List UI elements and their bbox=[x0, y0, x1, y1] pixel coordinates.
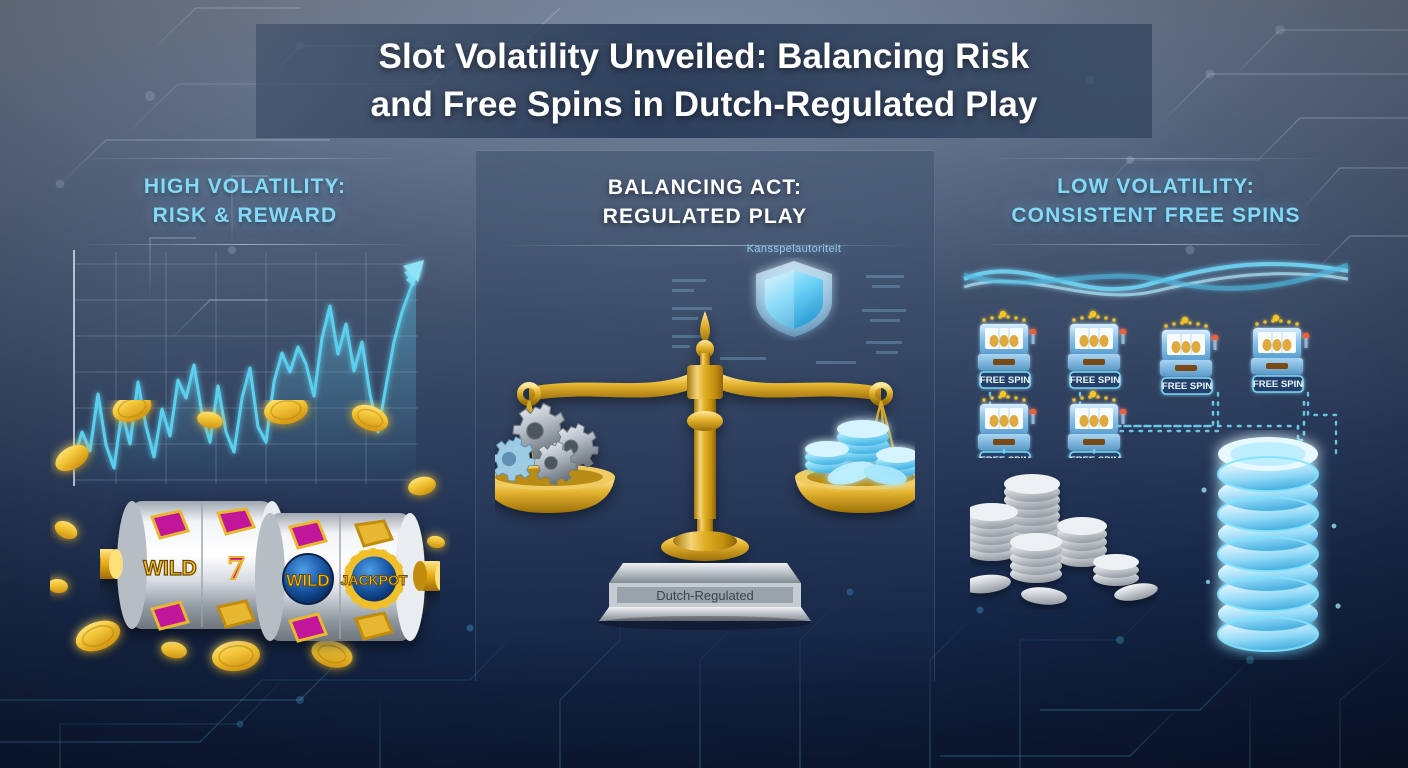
svg-text:WILD: WILD bbox=[286, 571, 329, 590]
silver-coin-pile bbox=[970, 450, 1160, 610]
heading-line1: BALANCING ACT: bbox=[476, 173, 934, 202]
heading-line2: RISK & REWARD bbox=[56, 201, 434, 230]
column-rule-top bbox=[982, 158, 1330, 159]
shield-label: Kansspelautoriteit bbox=[704, 243, 884, 255]
slot-machine-reels: WILD 7 bbox=[100, 475, 440, 665]
title-banner: Slot Volatility Unveiled: Balancing Risk… bbox=[256, 24, 1152, 138]
column-heading-balancing-act: BALANCING ACT: REGULATED PLAY bbox=[476, 151, 934, 231]
svg-text:WILD: WILD bbox=[143, 557, 197, 580]
svg-text:FREE SPIN: FREE SPIN bbox=[980, 375, 1030, 386]
svg-text:7: 7 bbox=[228, 550, 245, 587]
glowing-coin-stack bbox=[1188, 430, 1348, 660]
svg-text:JACKPOT: JACKPOT bbox=[341, 572, 408, 588]
infographic-canvas: Slot Volatility Unveiled: Balancing Risk… bbox=[0, 0, 1408, 768]
heading-line2: REGULATED PLAY bbox=[476, 202, 934, 231]
column-heading-low-volatility: LOW VOLATILITY: CONSISTENT FREE SPINS bbox=[960, 150, 1352, 230]
column-low-volatility: LOW VOLATILITY: CONSISTENT FREE SPINS bbox=[960, 150, 1352, 680]
page-title-line2: and Free Spins in Dutch-Regulated Play bbox=[371, 82, 1038, 128]
heading-line1: LOW VOLATILITY: bbox=[960, 172, 1352, 201]
heading-line1: HIGH VOLATILITY: bbox=[56, 172, 434, 201]
pedestal-label-text: Dutch-Regulated bbox=[656, 588, 754, 603]
heading-line2: CONSISTENT FREE SPINS bbox=[960, 201, 1352, 230]
column-high-volatility: HIGH VOLATILITY: RISK & REWARD bbox=[56, 150, 434, 680]
balance-scale: Dutch-Regulated bbox=[495, 301, 915, 661]
column-balancing-act: BALANCING ACT: REGULATED PLAY Kansspelau… bbox=[475, 150, 935, 681]
page-title-line1: Slot Volatility Unveiled: Balancing Risk bbox=[379, 34, 1030, 80]
svg-text:FREE SPIN: FREE SPIN bbox=[1162, 381, 1212, 392]
column-rule-bottom bbox=[78, 244, 412, 245]
svg-text:FREE SPIN: FREE SPIN bbox=[1070, 375, 1120, 386]
column-rule-top bbox=[78, 158, 412, 159]
column-heading-high-volatility: HIGH VOLATILITY: RISK & REWARD bbox=[56, 150, 434, 230]
svg-text:FREE SPIN: FREE SPIN bbox=[1253, 379, 1303, 390]
